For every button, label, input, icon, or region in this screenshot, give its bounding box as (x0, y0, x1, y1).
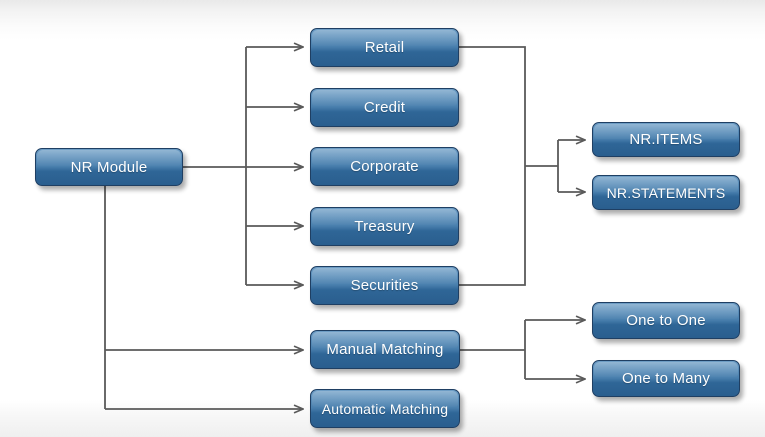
node-retail-label: Retail (365, 39, 405, 56)
node-credit[interactable]: Credit (310, 88, 459, 127)
node-securities-label: Securities (351, 277, 419, 294)
node-securities[interactable]: Securities (310, 266, 459, 305)
edge-retail-collector (459, 47, 525, 166)
node-nr-module-label: NR Module (71, 159, 148, 176)
node-corporate-label: Corporate (350, 158, 419, 175)
node-automatic-matching[interactable]: Automatic Matching (310, 389, 460, 428)
edge-securities-collector (459, 166, 525, 285)
node-corporate[interactable]: Corporate (310, 147, 459, 186)
node-one-to-one-label: One to One (626, 312, 706, 329)
node-one-to-many-label: One to Many (622, 370, 710, 387)
node-one-to-one[interactable]: One to One (592, 302, 740, 339)
diagram-canvas: NR Module Retail Credit Corporate Treasu… (0, 0, 765, 437)
node-automatic-matching-label: Automatic Matching (322, 401, 449, 417)
node-nr-statements[interactable]: NR.STATEMENTS (592, 175, 740, 210)
node-one-to-many[interactable]: One to Many (592, 360, 740, 397)
node-treasury-label: Treasury (354, 218, 414, 235)
node-nr-module[interactable]: NR Module (35, 148, 183, 186)
node-manual-matching-label: Manual Matching (326, 341, 443, 358)
node-treasury[interactable]: Treasury (310, 207, 459, 246)
node-nr-statements-label: NR.STATEMENTS (607, 185, 726, 201)
node-credit-label: Credit (364, 99, 405, 116)
node-retail[interactable]: Retail (310, 28, 459, 67)
node-nr-items[interactable]: NR.ITEMS (592, 122, 740, 157)
node-nr-items-label: NR.ITEMS (629, 131, 702, 148)
node-manual-matching[interactable]: Manual Matching (310, 330, 460, 369)
